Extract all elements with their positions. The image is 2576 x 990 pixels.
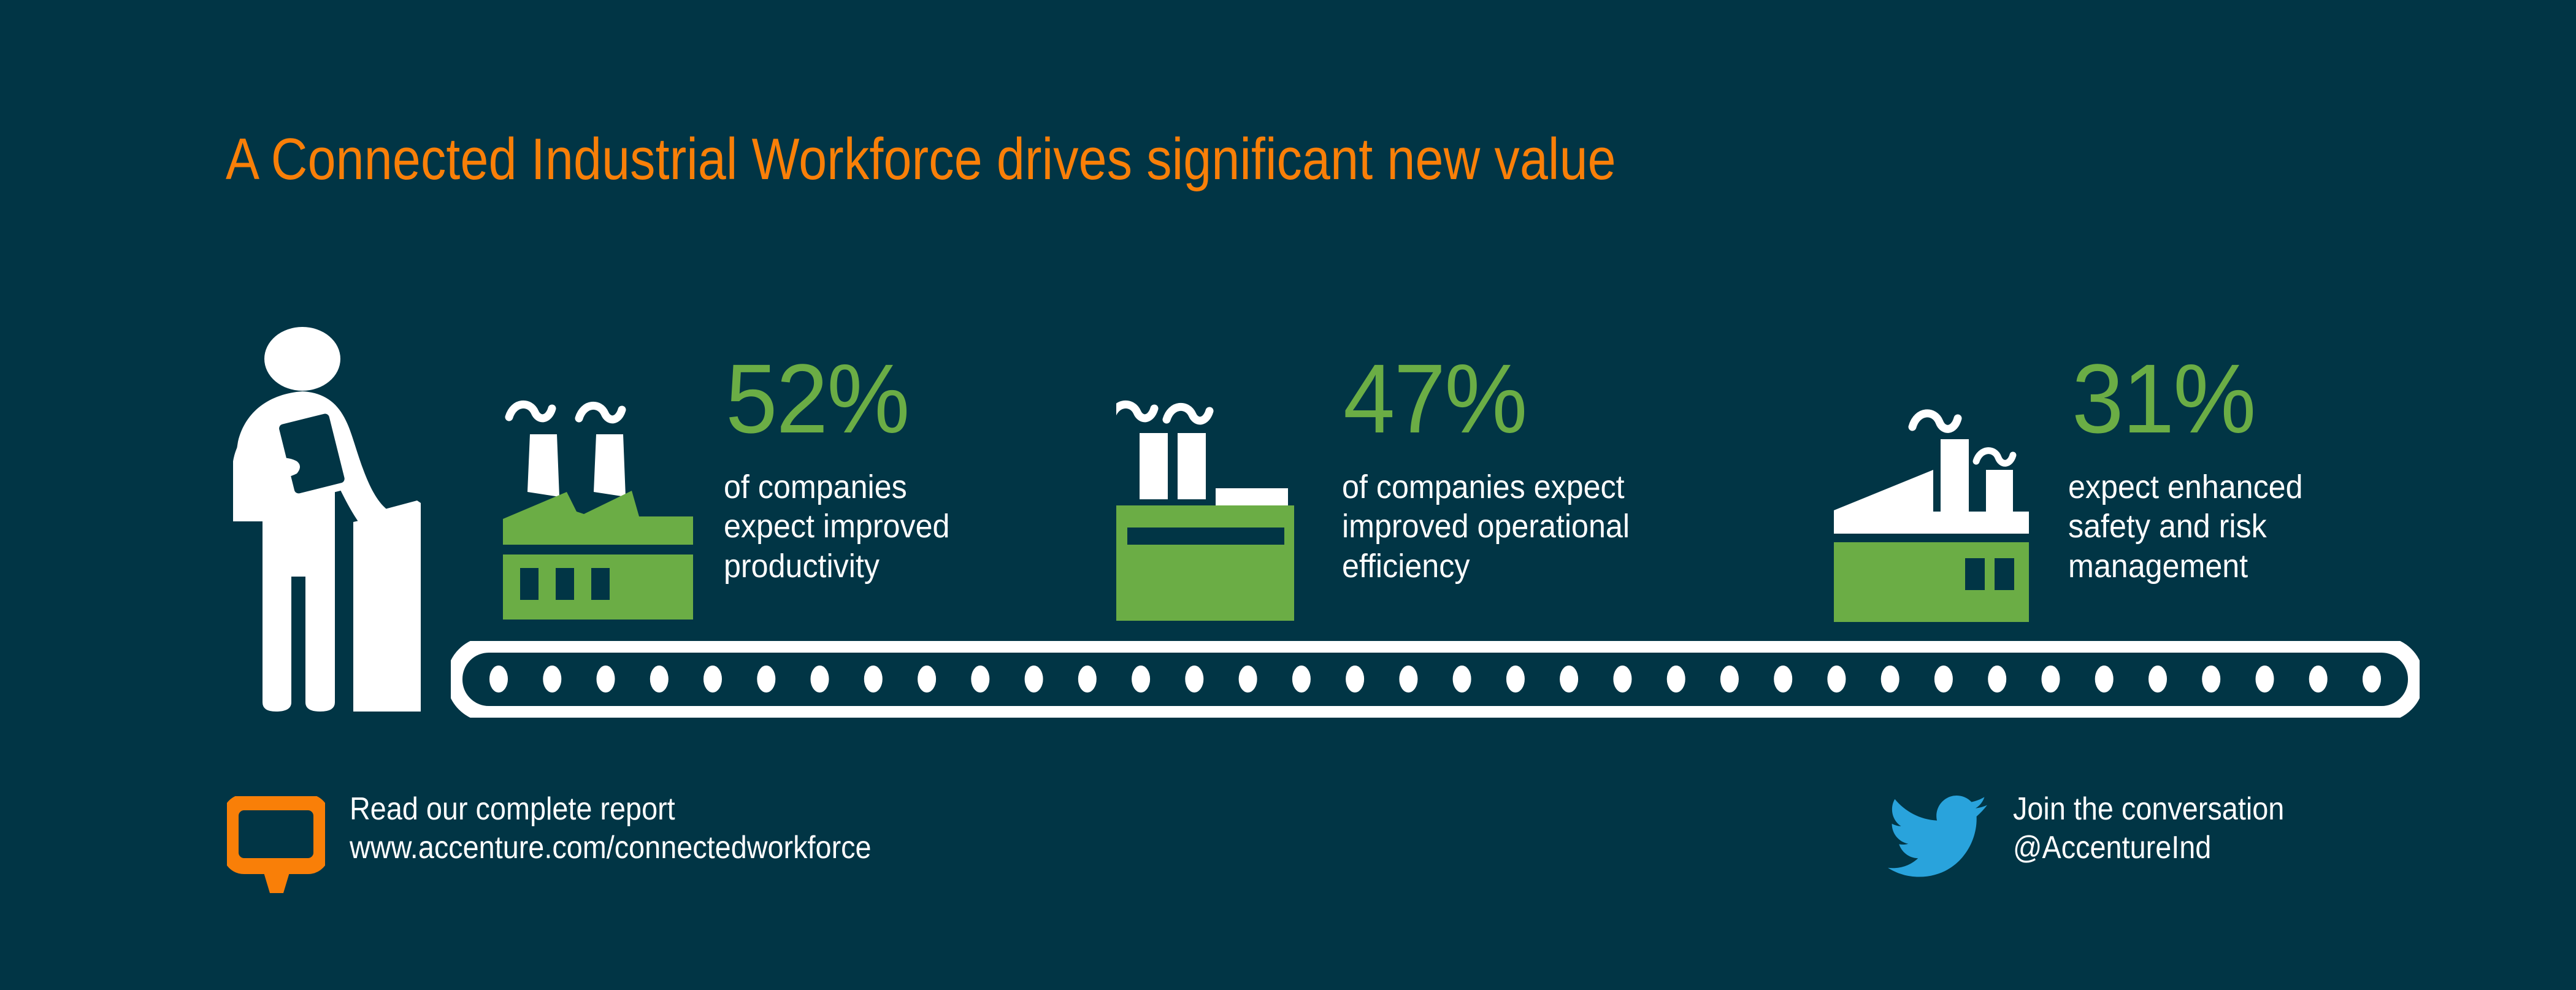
conveyor-roller (1934, 666, 1953, 693)
conveyor-roller (1185, 666, 1203, 693)
conveyor-roller (1560, 666, 1578, 693)
stat-number-3: 31% (2072, 350, 2255, 448)
page-title: A Connected Industrial Workforce drives … (226, 130, 1616, 189)
conveyor-roller (2095, 666, 2114, 693)
stat-caption-line: of companies expect (1342, 467, 1630, 507)
conveyor-roller (1667, 666, 1685, 693)
conveyor-roller (1774, 666, 1792, 693)
conveyor-roller (864, 666, 883, 693)
stat-caption-line: efficiency (1342, 547, 1630, 586)
twitter-link-text[interactable]: Join the conversation @AccentureInd (2013, 790, 2284, 868)
stat-caption-1: of companies expect improved productivit… (724, 467, 949, 586)
report-link-text[interactable]: Read our complete report www.accenture.c… (350, 790, 872, 868)
conveyor-roller (1988, 666, 2006, 693)
conveyor-roller (543, 666, 561, 693)
monitor-icon (227, 796, 325, 897)
conveyor-roller (2309, 666, 2328, 693)
stat-caption-line: expect improved (724, 507, 949, 546)
conveyor-roller (1613, 666, 1631, 693)
conveyor-roller (1506, 666, 1525, 693)
conveyor-roller (489, 666, 508, 693)
conveyor-roller (1078, 666, 1097, 693)
report-link-url[interactable]: www.accenture.com/connectedworkforce (350, 829, 872, 867)
stat-caption-line: improved operational (1342, 507, 1630, 546)
infographic-canvas: A Connected Industrial Workforce drives … (0, 0, 2576, 990)
conveyor-roller (1132, 666, 1150, 693)
stat-caption-2: of companies expect improved operational… (1342, 467, 1630, 586)
stat-number-1: 52% (726, 350, 909, 448)
report-link-line: Read our complete report (350, 790, 872, 829)
conveyor-roller (650, 666, 669, 693)
conveyor-roller (757, 666, 775, 693)
stat-caption-line: productivity (724, 547, 949, 586)
twitter-bird-icon (1888, 794, 1987, 883)
factory-icon-3 (1834, 380, 2055, 626)
stat-caption-line: of companies (724, 467, 949, 507)
stat-number-2: 47% (1343, 350, 1527, 448)
conveyor-roller (1827, 666, 1846, 693)
conveyor-roller (703, 666, 722, 693)
conveyor-roller (2363, 666, 2381, 693)
conveyor-roller (1239, 666, 1257, 693)
conveyor-roller (1346, 666, 1364, 693)
factory-icon-2 (1116, 380, 1337, 626)
conveyor-roller (2149, 666, 2167, 693)
conveyor-roller (1025, 666, 1043, 693)
conveyor-roller (1453, 666, 1471, 693)
twitter-handle[interactable]: @AccentureInd (2013, 829, 2284, 867)
stat-caption-line: safety and risk (2068, 507, 2303, 546)
conveyor-roller (597, 666, 615, 693)
stat-caption-3: expect enhanced safety and risk manageme… (2068, 467, 2303, 586)
conveyor-roller (918, 666, 936, 693)
twitter-tagline: Join the conversation (2013, 790, 2284, 829)
conveyor-roller (1720, 666, 1739, 693)
conveyor-roller (2256, 666, 2274, 693)
conveyor-belt-icon (451, 641, 2420, 718)
conveyor-roller (2202, 666, 2220, 693)
stat-caption-line: management (2068, 547, 2303, 586)
stat-caption-line: expect enhanced (2068, 467, 2303, 507)
conveyor-roller (1881, 666, 1899, 693)
conveyor-roller (2042, 666, 2060, 693)
conveyor-roller (1399, 666, 1417, 693)
conveyor-roller (1292, 666, 1311, 693)
industrial-worker-icon (233, 319, 442, 712)
factory-icon-1 (503, 380, 724, 626)
conveyor-roller (971, 666, 989, 693)
conveyor-roller (811, 666, 829, 693)
